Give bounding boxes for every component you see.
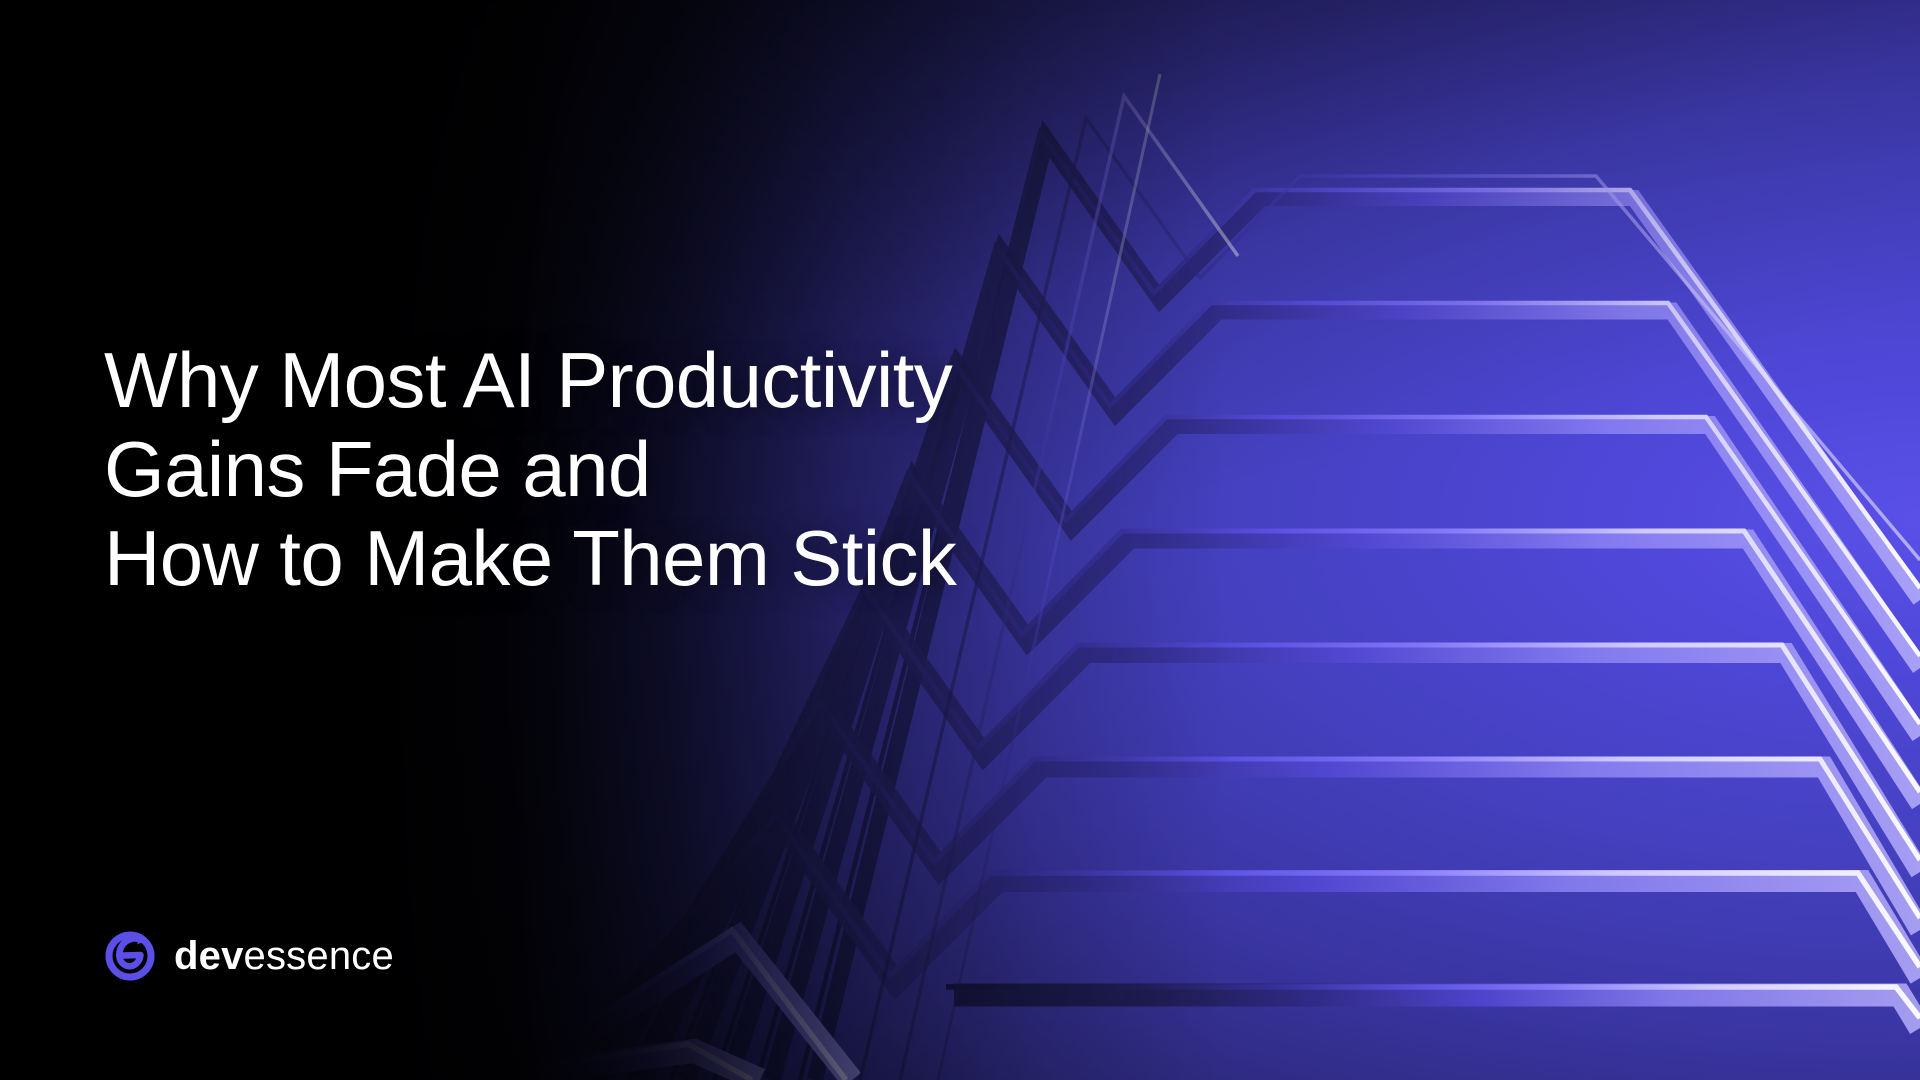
brand-lockup[interactable]: devessence <box>104 930 394 982</box>
devessence-logo-icon <box>104 930 156 982</box>
brand-wordmark: devessence <box>174 936 394 976</box>
brand-word-strong: dev <box>174 934 244 978</box>
cover-canvas: Why Most AI Productivity Gains Fade and … <box>0 0 1920 1080</box>
page-title: Why Most AI Productivity Gains Fade and … <box>104 336 956 603</box>
brand-word-light: essence <box>244 934 394 978</box>
